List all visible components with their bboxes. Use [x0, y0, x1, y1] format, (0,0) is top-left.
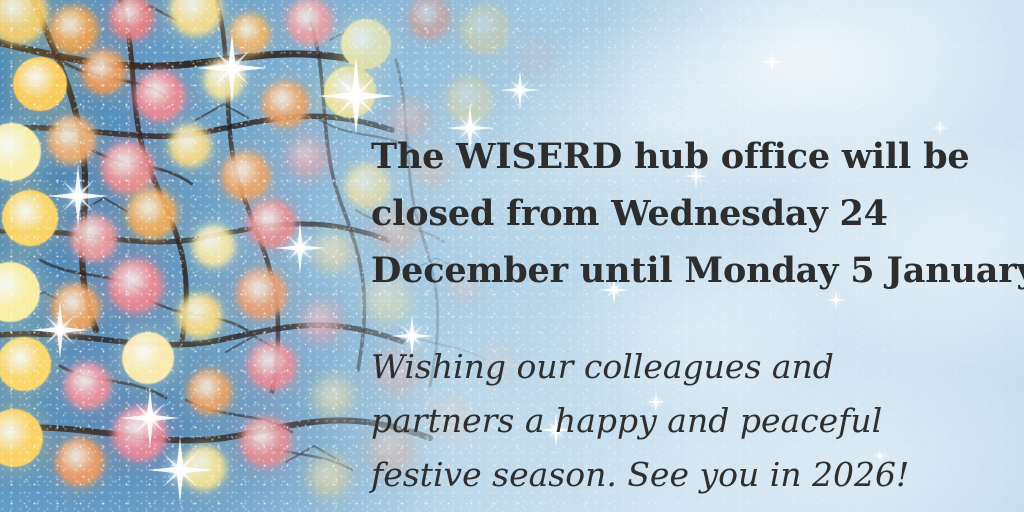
announcement-headline: The WISERD hub office will be closed fro…	[371, 128, 971, 300]
body-line-3: festive season. See you in 2026!	[371, 455, 909, 494]
headline-line-3: December until Monday 5 January	[371, 250, 1024, 291]
headline-line-1: The WISERD hub office will be	[371, 136, 969, 177]
body-line-1: Wishing our colleagues and	[371, 347, 834, 386]
announcement-text-block: The WISERD hub office will be closed fro…	[371, 128, 971, 502]
body-line-2: partners a happy and peaceful	[371, 401, 882, 440]
festive-announcement-graphic: The WISERD hub office will be closed fro…	[0, 0, 1024, 512]
headline-line-2: closed from Wednesday 24	[371, 193, 888, 234]
announcement-body: Wishing our colleagues and partners a ha…	[371, 300, 971, 502]
